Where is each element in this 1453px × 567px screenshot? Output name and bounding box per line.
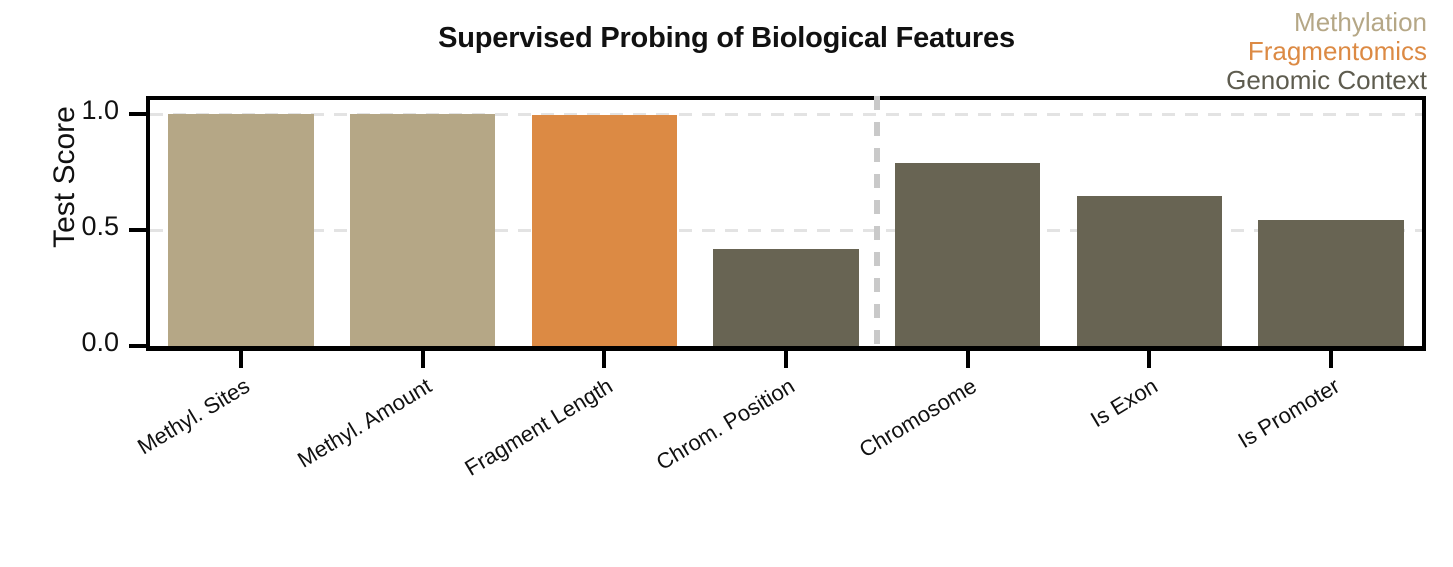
bar-methyl-sites[interactable] — [168, 114, 313, 346]
legend-entry-methylation[interactable]: Methylation — [1226, 8, 1427, 37]
plot-inner — [150, 100, 1422, 346]
gridline-0.5 — [150, 229, 1422, 232]
y-tick-mark-0.5 — [129, 228, 146, 232]
gridline-1.0 — [150, 113, 1422, 116]
category-group-divider — [874, 96, 880, 346]
bar-chromosome[interactable] — [895, 163, 1040, 346]
x-tick-mark-1 — [421, 351, 425, 368]
plot-area — [146, 96, 1426, 351]
bar-is-exon[interactable] — [1077, 196, 1222, 346]
legend-entry-fragmentomics[interactable]: Fragmentomics — [1226, 37, 1427, 66]
y-tick-mark-0.0 — [129, 344, 146, 348]
bar-methyl-amount[interactable] — [350, 114, 495, 346]
bar-is-promoter[interactable] — [1258, 220, 1403, 346]
y-axis-label: Test Score — [48, 32, 82, 322]
x-tick-mark-3 — [784, 351, 788, 368]
x-tick-mark-5 — [1147, 351, 1151, 368]
y-tick-label-1.0: 1.0 — [39, 95, 119, 126]
legend-entry-genomic-context[interactable]: Genomic Context — [1226, 66, 1427, 95]
x-tick-mark-2 — [602, 351, 606, 368]
bar-fragment-length[interactable] — [532, 115, 677, 346]
x-tick-mark-4 — [966, 351, 970, 368]
chart-legend: MethylationFragmentomicsGenomic Context — [1226, 8, 1427, 95]
y-tick-mark-1.0 — [129, 112, 146, 116]
x-tick-mark-0 — [239, 351, 243, 368]
y-tick-label-0.5: 0.5 — [39, 211, 119, 242]
chart-figure: Supervised Probing of Biological Feature… — [0, 0, 1453, 567]
x-tick-mark-6 — [1329, 351, 1333, 368]
bar-chrom-position[interactable] — [713, 249, 858, 346]
y-tick-label-0.0: 0.0 — [39, 327, 119, 358]
